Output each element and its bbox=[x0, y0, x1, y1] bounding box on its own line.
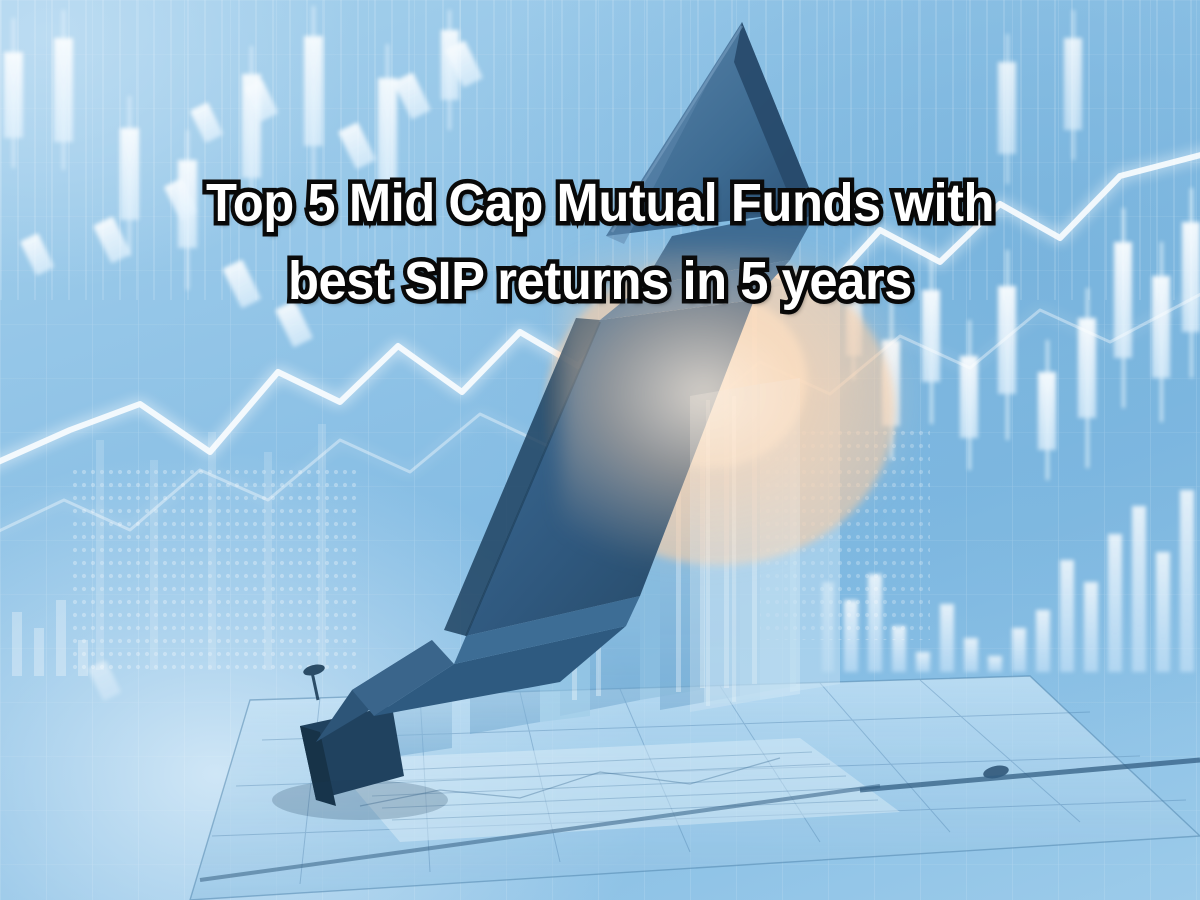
glass-columns-foreground bbox=[690, 378, 800, 712]
banner-image: Top 5 Mid Cap Mutual Funds with best SIP… bbox=[0, 0, 1200, 900]
background-chart-art bbox=[0, 0, 1200, 900]
candlesticks-right bbox=[846, 10, 1200, 480]
